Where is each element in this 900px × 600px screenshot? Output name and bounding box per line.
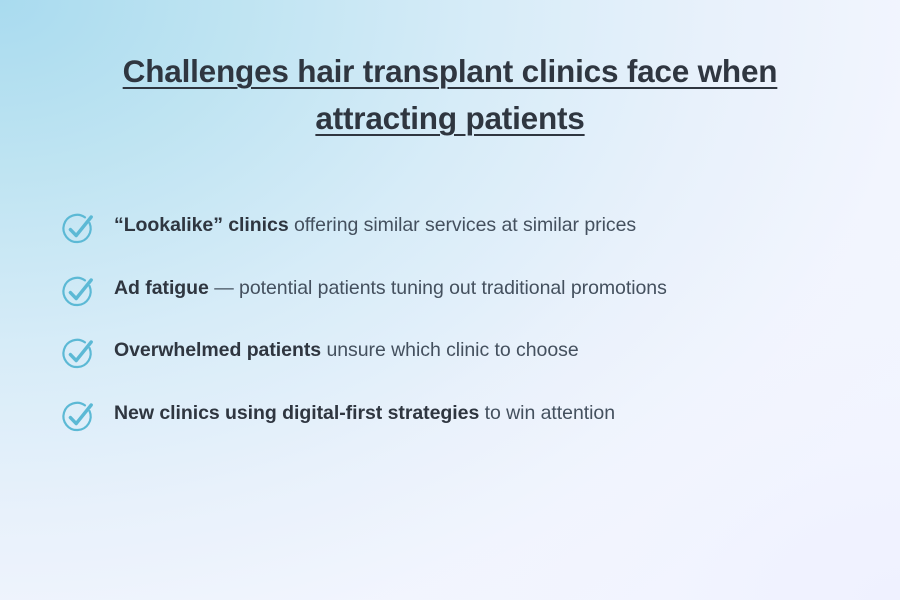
check-circle-icon	[58, 397, 98, 437]
list-item-lead: “Lookalike” clinics	[114, 214, 289, 236]
list-item-lead: Ad fatigue	[114, 277, 209, 299]
list-item: Overwhelmed patients unsure which clinic…	[58, 333, 876, 396]
list-item-text: Overwhelmed patients unsure which clinic…	[114, 333, 876, 367]
check-circle-icon	[58, 334, 98, 374]
list-item-text: New clinics using digital-first strategi…	[114, 396, 876, 430]
page-title-line-1: Challenges hair transplant clinics face …	[40, 48, 860, 95]
list-item-text: “Lookalike” clinics offering similar ser…	[114, 208, 876, 242]
check-circle-icon	[58, 272, 98, 312]
list-item: New clinics using digital-first strategi…	[58, 396, 876, 459]
list-item-rest: unsure which clinic to choose	[321, 339, 579, 361]
list-item: “Lookalike” clinics offering similar ser…	[58, 208, 876, 271]
list-item-rest: offering similar services at similar pri…	[289, 214, 636, 236]
slide-canvas: Challenges hair transplant clinics face …	[0, 0, 900, 600]
list-item: Ad fatigue — potential patients tuning o…	[58, 271, 876, 334]
list-item-lead: Overwhelmed patients	[114, 339, 321, 361]
check-circle-icon	[58, 209, 98, 249]
page-title: Challenges hair transplant clinics face …	[0, 48, 900, 142]
page-title-line-2: attracting patients	[40, 95, 860, 142]
challenges-list: “Lookalike” clinics offering similar ser…	[58, 208, 876, 458]
slide-content: Challenges hair transplant clinics face …	[0, 0, 900, 600]
list-item-rest: to win attention	[479, 402, 615, 424]
list-item-rest: — potential patients tuning out traditio…	[209, 277, 667, 299]
list-item-lead: New clinics using digital-first strategi…	[114, 402, 479, 424]
list-item-text: Ad fatigue — potential patients tuning o…	[114, 271, 876, 305]
